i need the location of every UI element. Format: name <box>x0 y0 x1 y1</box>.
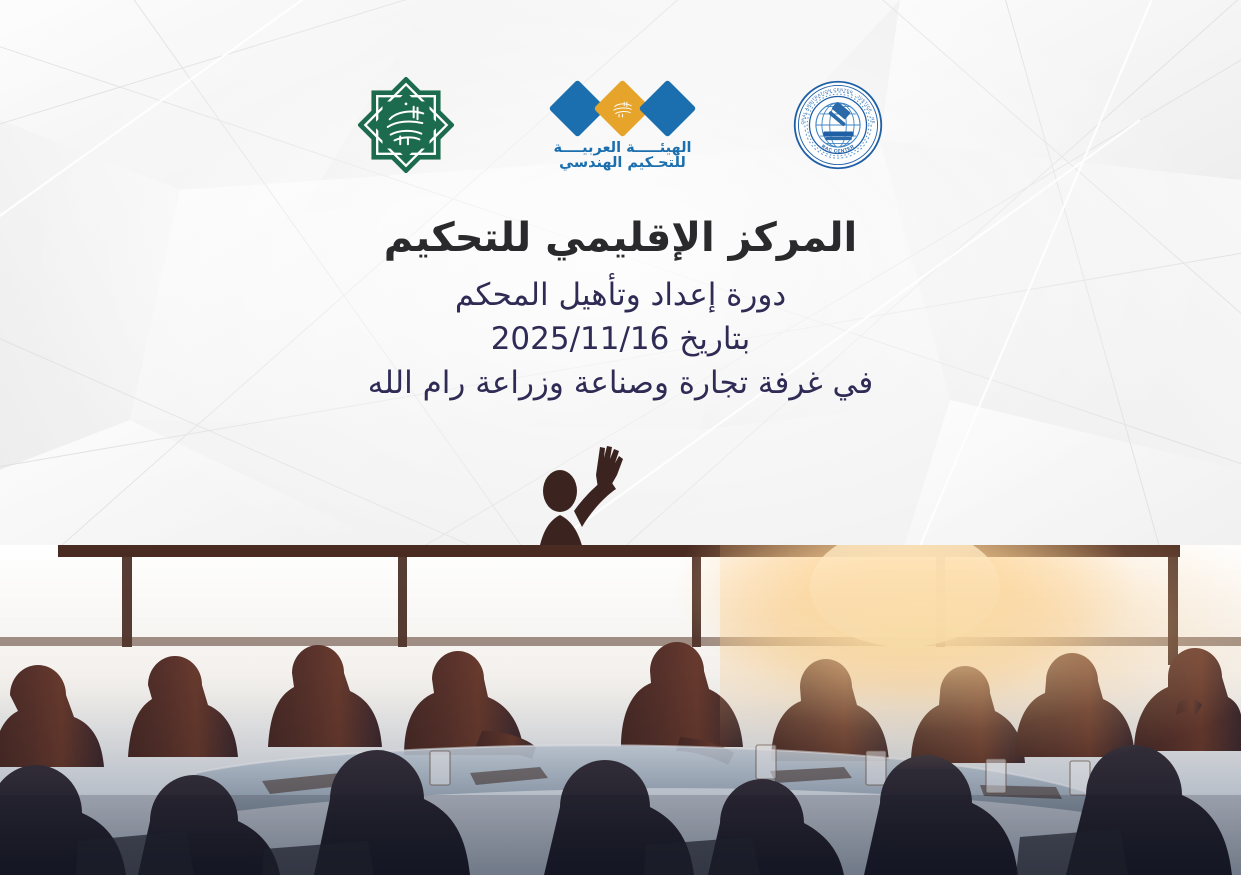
diamond-right <box>639 80 697 138</box>
event-venue: في غرفة تجارة وصناعة وزراعة رام الله <box>0 361 1241 405</box>
logo-wordmark-line2: للتحـكيم الهندسي <box>553 156 691 171</box>
logo-wordmark-line1: الهيئـــــة العربيــــة <box>553 141 691 156</box>
rac-center-seal-logo: THE REGIONAL ARBITRATION CENTER · JUSTIC… <box>792 79 884 171</box>
logo-arab-engineering-arbitration: الهيئـــــة العربيــــة للتحـكيم الهندسي <box>540 75 706 175</box>
course-title: دورة إعداد وتأهيل المحكم <box>0 273 1241 317</box>
logo-arab-calligraphy-star <box>358 77 454 173</box>
conference-photo <box>0 545 1241 875</box>
page-title: المركز الإقليمي للتحكيم <box>0 215 1241 261</box>
event-poster: الهيئـــــة العربيــــة للتحـكيم الهندسي <box>0 0 1241 875</box>
poster-text-block: المركز الإقليمي للتحكيم دورة إعداد وتأهي… <box>0 215 1241 405</box>
three-diamonds-logo <box>557 80 688 138</box>
logo-rac-center-seal: THE REGIONAL ARBITRATION CENTER · JUSTIC… <box>792 79 884 171</box>
conference-silhouette-illustration <box>0 545 1241 875</box>
logo-row: الهيئـــــة العربيــــة للتحـكيم الهندسي <box>0 70 1241 180</box>
logo-wordmark: الهيئـــــة العربيــــة للتحـكيم الهندسي <box>553 141 691 171</box>
event-date: بتاريخ 2025/11/16 <box>0 317 1241 361</box>
green-eight-point-star-logo <box>358 77 454 173</box>
gold-diamond-calligraphy-icon <box>610 96 636 122</box>
photo-inner <box>0 545 1241 875</box>
